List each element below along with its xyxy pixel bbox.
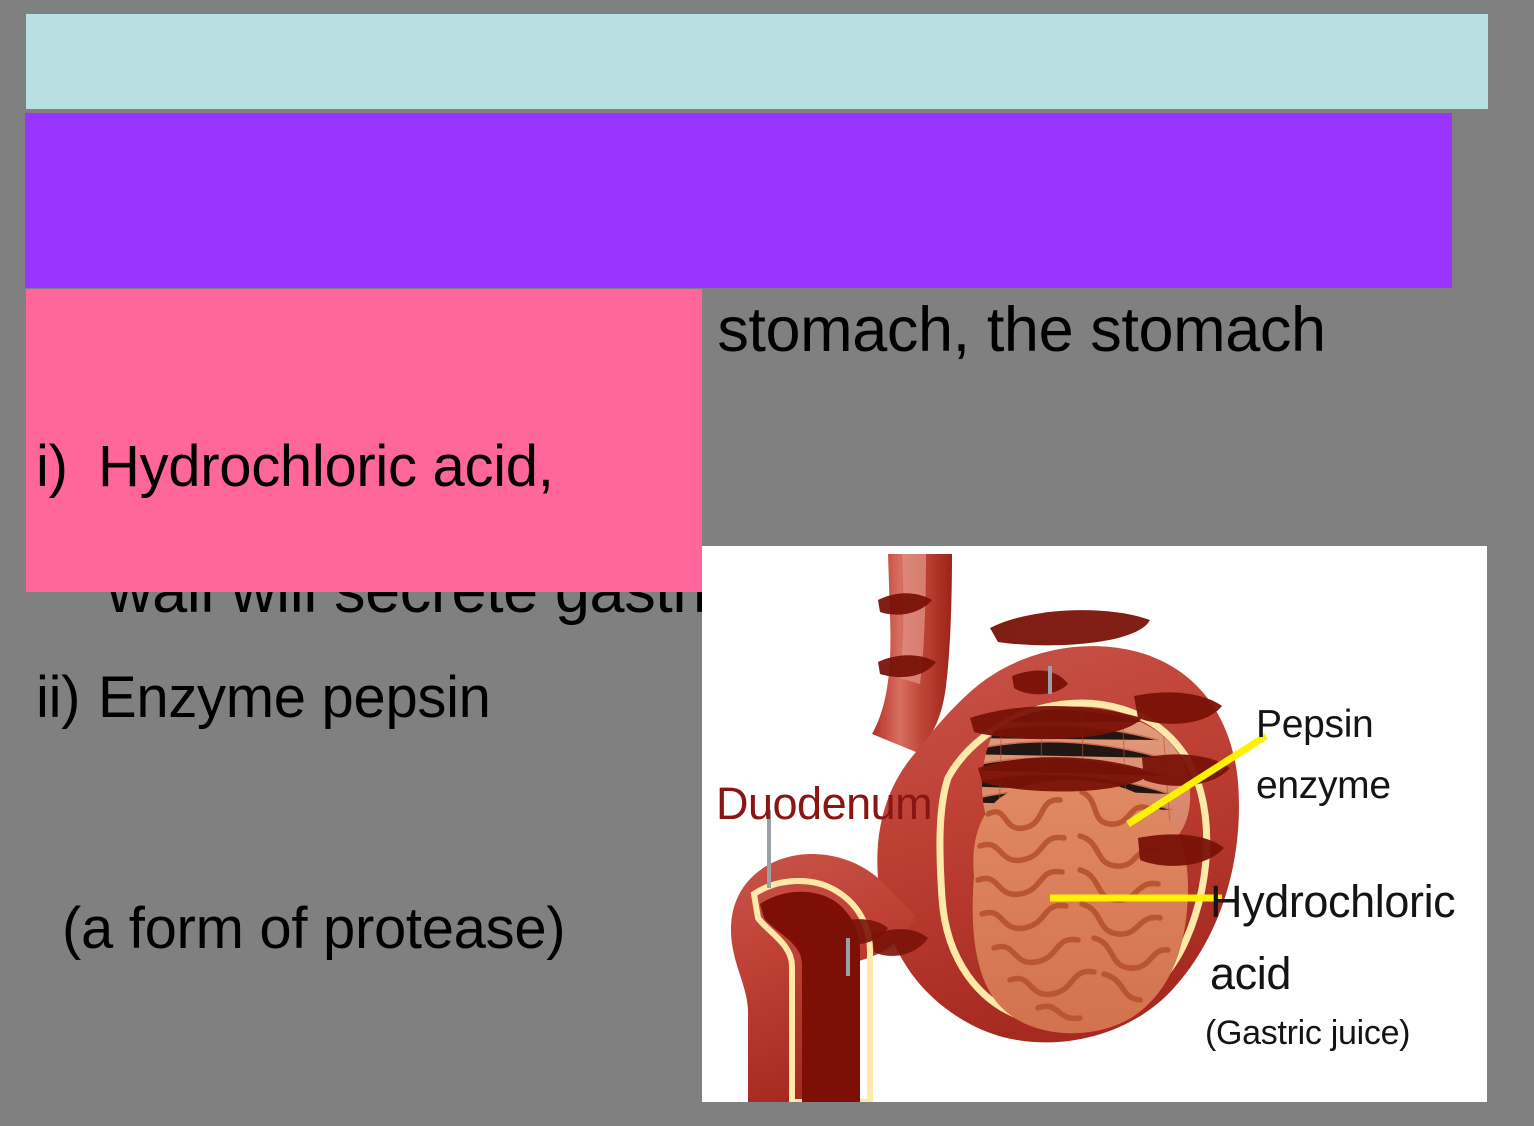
hydrochloric-acid-label-line-2: acid <box>1210 948 1291 999</box>
list-item: (a form of protease) <box>26 895 702 992</box>
stomach-diagram-image: Duodenum Pepsinenzyme Hydrochloricacid (… <box>702 546 1487 1102</box>
list-item: i) Hydrochloric acid, <box>26 433 702 530</box>
pepsin-enzyme-label-line-2: enzyme <box>1256 764 1391 807</box>
duodenum-label: Duodenum <box>716 778 932 830</box>
hydrochloric-acid-label-line-1: Hydrochloric <box>1210 876 1455 927</box>
gastric-juice-label: (Gastric juice) <box>1205 1014 1410 1053</box>
bullet-point-2-box: 2. When food enters the stomach, the sto… <box>25 113 1452 288</box>
list-item-marker: ii) <box>36 664 98 731</box>
list-item-label: Hydrochloric acid, <box>98 433 554 500</box>
list-item: ii) Enzyme pepsin <box>26 664 702 761</box>
list-item-label: Enzyme pepsin <box>98 664 491 731</box>
hydrochloric-acid-label: Hydrochloricacid <box>1210 866 1455 1010</box>
slide-canvas: 1.The stomach - acts as a bag to store f… <box>0 0 1534 1102</box>
gastric-juice-contents-box: i) Hydrochloric acid, ii) Enzyme pepsin … <box>26 289 702 592</box>
list-item-marker: i) <box>36 433 98 500</box>
list-item-label: (a form of protease) <box>62 895 565 962</box>
pepsin-enzyme-label-line-1: Pepsin <box>1256 703 1373 746</box>
bullet-point-1-box: 1.The stomach - acts as a bag to store f… <box>26 14 1488 109</box>
pepsin-enzyme-label: Pepsinenzyme <box>1256 694 1391 816</box>
